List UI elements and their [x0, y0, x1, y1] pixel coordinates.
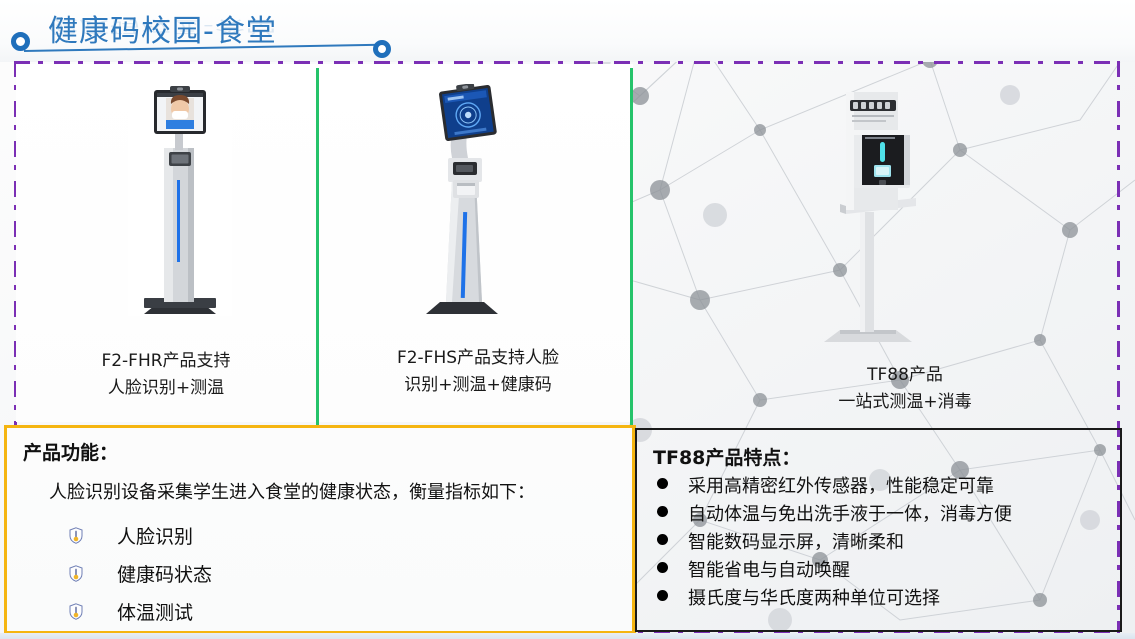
product-caption-f2-fhs: F2-FHS产品支持人脸 识别+测温+健康码	[330, 345, 626, 399]
product-caption-f2-fhr: F2-FHR产品支持 人脸识别+测温	[18, 348, 314, 402]
list-item-label: 智能数码显示屏，清晰柔和	[688, 528, 904, 554]
product-function-list: 人脸识别 健康码状态	[69, 516, 212, 630]
list-item: 人脸识别	[69, 516, 212, 554]
shield-thermometer-icon	[69, 527, 83, 544]
product-function-lead-text: 人脸识别设备采集学生进入食堂的健康状态，衡量指标如下：	[49, 478, 535, 504]
list-item-label: 采用高精密红外传感器，性能稳定可靠	[688, 472, 994, 498]
list-item-label: 健康码状态	[117, 560, 212, 587]
slide-canvas: 健康码校园-食堂 健康码校园-食堂	[0, 0, 1135, 639]
product-cell-f2-fhs: F2-FHS产品支持人脸 识别+测温+健康码	[330, 345, 626, 399]
list-item-label: 摄氏度与华氏度两种单位可选择	[688, 584, 940, 610]
device-image-f2-fhs	[412, 84, 512, 316]
filled-circle-bullet-icon	[657, 506, 668, 517]
tf88-feature-panel: TF88产品特点： 采用高精密红外传感器，性能稳定可靠 自动体温与免出洗手液于一…	[635, 428, 1122, 632]
device-image-f2-fhr	[128, 84, 232, 316]
product-divider-1	[316, 68, 319, 430]
list-item-label: 体温测试	[117, 598, 193, 625]
list-item-label: 人脸识别	[117, 522, 193, 549]
filled-circle-bullet-icon	[657, 534, 668, 545]
list-item: 健康码状态	[69, 554, 212, 592]
shield-thermometer-icon	[69, 565, 83, 582]
list-item: 摄氏度与华氏度两种单位可选择	[657, 584, 1012, 612]
title-node-left-icon	[11, 32, 30, 51]
list-item: 自动体温与免出洗手液于一体，消毒方便	[657, 500, 1012, 528]
page-title: 健康码校园-食堂	[48, 6, 277, 50]
shield-thermometer-icon	[69, 603, 83, 620]
product-cell-f2-fhr: F2-FHR产品支持 人脸识别+测温	[18, 348, 314, 402]
tf88-feature-title: TF88产品特点：	[653, 443, 800, 470]
product-function-panel: 产品功能： 人脸识别设备采集学生进入食堂的健康状态，衡量指标如下： 人脸识别	[4, 425, 635, 634]
product-divider-2	[630, 68, 633, 430]
list-item: 智能数码显示屏，清晰柔和	[657, 528, 1012, 556]
filled-circle-bullet-icon	[657, 478, 668, 489]
bottom-strip	[0, 633, 1135, 639]
filled-circle-bullet-icon	[657, 590, 668, 601]
device-image-tf88	[810, 80, 926, 348]
list-item-label: 自动体温与免出洗手液于一体，消毒方便	[688, 500, 1012, 526]
list-item: 智能省电与自动唤醒	[657, 556, 1012, 584]
product-caption-tf88: TF88产品 一站式测温+消毒	[790, 362, 1020, 416]
title-band: 健康码校园-食堂 健康码校园-食堂	[0, 0, 1135, 62]
title-node-right-icon	[373, 40, 391, 58]
list-item-label: 智能省电与自动唤醒	[688, 556, 850, 582]
filled-circle-bullet-icon	[657, 562, 668, 573]
tf88-feature-list: 采用高精密红外传感器，性能稳定可靠 自动体温与免出洗手液于一体，消毒方便 智能数…	[657, 472, 1012, 612]
product-cell-tf88: TF88产品 一站式测温+消毒	[790, 362, 1020, 416]
list-item: 体温测试	[69, 592, 212, 630]
product-function-title: 产品功能：	[23, 438, 118, 465]
list-item: 采用高精密红外传感器，性能稳定可靠	[657, 472, 1012, 500]
